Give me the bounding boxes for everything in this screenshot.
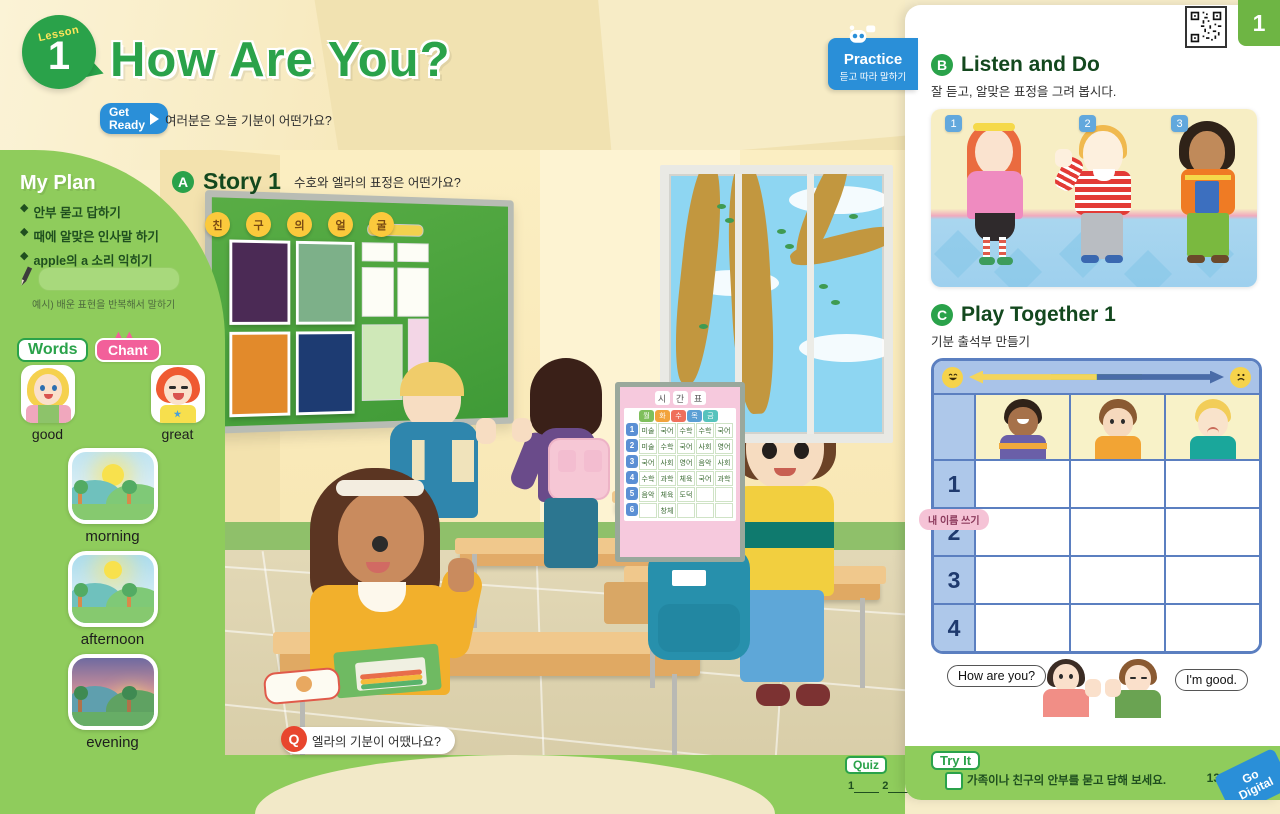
practice-tab[interactable]: Practice 듣고 따라 말하기 xyxy=(828,38,918,90)
timetable-cell: 체육 xyxy=(658,487,676,502)
word-card-evening[interactable]: evening xyxy=(68,654,158,751)
mood-scale-bar xyxy=(934,361,1259,393)
word-card-afternoon[interactable]: afternoon xyxy=(68,551,158,648)
bulletin-letters: 친 구 의 얼 굴 xyxy=(205,212,394,237)
listen-illustration: 1 2 3 xyxy=(931,109,1257,287)
quiz-answer-line[interactable]: 1 2 xyxy=(848,780,913,792)
plan-item-label: 때에 알맞은 인사말 하기 xyxy=(33,226,158,245)
timetable-title: 시 간 표 xyxy=(620,387,740,405)
timetable-cell: 체육 xyxy=(677,471,695,486)
try-it-text: 가족이나 친구의 안부를 묻고 답해 보세요. xyxy=(967,772,1166,788)
word-card-image xyxy=(151,365,205,423)
try-it-badge: Try It xyxy=(931,751,980,770)
table-cell[interactable] xyxy=(974,557,1069,603)
period-number: 4 xyxy=(626,471,638,484)
timetable-cell xyxy=(677,503,695,518)
plan-item-label: 안부 묻고 답하기 xyxy=(33,202,120,221)
page-tab: 1 xyxy=(1238,0,1280,46)
timetable-cell: 사회 xyxy=(696,439,714,454)
table-cell[interactable] xyxy=(1164,605,1259,651)
table-cell[interactable] xyxy=(1069,557,1164,603)
listen-marker: B xyxy=(931,54,953,76)
word-card-good[interactable]: good xyxy=(3,365,93,442)
story-question-text: 엘라의 기분이 어땠나요? xyxy=(312,735,441,749)
day-header: 목 xyxy=(687,410,702,422)
table-cell[interactable] xyxy=(1069,509,1164,555)
word-card-label: great xyxy=(162,426,194,442)
row-number: 4 xyxy=(934,605,974,651)
get-ready-line1: Get xyxy=(109,106,145,119)
timetable-title-char: 표 xyxy=(691,391,706,405)
table-row: 4 xyxy=(934,603,1259,651)
table-cell[interactable] xyxy=(1069,605,1164,651)
mood-column-happy xyxy=(974,395,1069,459)
period-number: 2 xyxy=(626,439,638,452)
word-card-great[interactable]: great xyxy=(133,365,223,442)
plan-item: ◆ 때에 알맞은 인사말 하기 xyxy=(20,226,210,245)
bulletin-letter: 구 xyxy=(246,212,271,237)
timetable-cell: 국어 xyxy=(677,439,695,454)
plan-list: ◆ 안부 묻고 답하기 ◆ 때에 알맞은 인사말 하기 ◆ apple의 a 소… xyxy=(20,202,210,274)
timetable-cell: 음악 xyxy=(696,455,714,470)
table-cell[interactable] xyxy=(974,605,1069,651)
play-title: Play Together 1 xyxy=(961,303,1116,327)
right-page: B Listen and Do 잘 듣고, 알맞은 표정을 그려 봅시다. 1 … xyxy=(905,5,1280,800)
plan-write-input[interactable] xyxy=(38,267,180,291)
listen-item-number: 2 xyxy=(1079,115,1096,132)
period-number: 6 xyxy=(626,503,638,516)
word-card-label: good xyxy=(32,426,63,442)
name-tag-label: 내 이름 쓰기 xyxy=(919,509,989,530)
word-card-image xyxy=(68,448,158,524)
chant-badge[interactable]: Chant xyxy=(95,338,161,362)
word-card-image xyxy=(21,365,75,423)
pencil-case-sticker xyxy=(296,676,312,692)
timetable-cell xyxy=(696,487,714,502)
bulletin-letter: 의 xyxy=(287,212,312,237)
timetable-cell: 도덕 xyxy=(677,487,695,502)
footer-curve xyxy=(255,755,775,814)
story-question-bubble: Q 엘라의 기분이 어땠나요? xyxy=(282,727,455,754)
timetable-cell: 과학 xyxy=(658,471,676,486)
timetable-cell: 국어 xyxy=(696,471,714,486)
word-card-label: afternoon xyxy=(81,631,144,648)
timetable-cell xyxy=(715,503,733,518)
bulletin-letter: 굴 xyxy=(369,212,394,237)
mood-arrows xyxy=(969,371,1224,384)
bullet-icon: ◆ xyxy=(20,202,28,215)
plan-hint: 예시) 배운 표현을 반복해서 말하기 xyxy=(32,296,175,311)
period-number: 5 xyxy=(626,487,638,500)
word-card-label: evening xyxy=(86,734,139,751)
dialogue-row: How are you? I'm good. xyxy=(931,659,1256,705)
get-ready-badge[interactable]: Get Ready xyxy=(100,103,168,134)
mood-attendance-table: 1 2 3 xyxy=(931,358,1262,654)
sad-face-icon xyxy=(1230,367,1251,388)
header-corner-cell xyxy=(934,395,974,459)
try-it-band: Try It 가족이나 친구의 안부를 묻고 답해 보세요. 13 Go Dig… xyxy=(905,746,1280,800)
story-subtitle: 수호와 엘라의 표정은 어떤가요? xyxy=(294,172,461,191)
my-plan-sidebar: My Plan ◆ 안부 묻고 답하기 ◆ 때에 알맞은 인사말 하기 ◆ ap… xyxy=(0,150,225,814)
timetable-cell: 국어 xyxy=(658,423,676,438)
timetable-cell: 수학 xyxy=(696,423,714,438)
timetable-cell: 국어 xyxy=(715,423,733,438)
left-page: 친 구 의 얼 굴 xyxy=(0,0,905,814)
timetable-cell: 과학 xyxy=(715,471,733,486)
my-plan-title: My Plan xyxy=(20,172,96,195)
qr-code[interactable] xyxy=(1185,6,1227,48)
lesson-badge: Lesson 1 xyxy=(22,15,96,89)
play-subtitle: 기분 출석부 만들기 xyxy=(931,331,1256,350)
bullet-icon: ◆ xyxy=(20,226,28,239)
timetable-cell: 창체 xyxy=(658,503,676,518)
mood-column-sad xyxy=(1164,395,1259,459)
play-section-header: C Play Together 1 xyxy=(931,303,1256,327)
play-marker: C xyxy=(931,304,953,326)
timetable-cell xyxy=(715,487,733,502)
timetable-cell: 미술 xyxy=(639,439,657,454)
listen-title: Listen and Do xyxy=(961,53,1100,77)
classroom-illustration: 친 구 의 얼 굴 xyxy=(160,150,905,814)
plan-item: ◆ 안부 묻고 답하기 xyxy=(20,202,210,221)
timetable-cell: 미술 xyxy=(639,423,657,438)
table-header-row xyxy=(934,393,1259,459)
timetable-title-char: 시 xyxy=(655,391,670,405)
table-row: 1 xyxy=(934,459,1259,507)
page-title: How Are You? xyxy=(110,32,451,88)
get-ready-question: 여러분은 오늘 기분이 어떤가요? xyxy=(165,110,332,129)
timetable-grid: 월 화 수 목 금 1 미술 국어 수학 수학 국어 2 미술 수학 xyxy=(624,408,736,521)
table-cell[interactable] xyxy=(974,461,1069,507)
timetable-cell: 사회 xyxy=(715,455,733,470)
table-cell[interactable] xyxy=(1069,461,1164,507)
day-header: 수 xyxy=(671,410,686,422)
play-icon xyxy=(150,113,159,125)
day-header: 월 xyxy=(639,410,654,422)
try-it-checkbox[interactable] xyxy=(945,772,963,790)
table-cell[interactable] xyxy=(1164,509,1259,555)
listen-subtitle: 잘 듣고, 알맞은 표정을 그려 봅시다. xyxy=(931,81,1256,100)
practice-subtitle: 듣고 따라 말하기 xyxy=(828,69,918,83)
story-marker: A xyxy=(172,171,194,193)
timetable-cell: 국어 xyxy=(639,455,657,470)
timetable-cell: 수학 xyxy=(658,439,676,454)
word-card-image xyxy=(68,551,158,627)
timetable-cell xyxy=(696,503,714,518)
timetable-cell: 수학 xyxy=(677,423,695,438)
word-card-morning[interactable]: morning xyxy=(68,448,158,545)
desk-leg xyxy=(860,598,865,688)
speech-bubble-left: How are you? xyxy=(947,665,1046,687)
row-number: 1 xyxy=(934,461,974,507)
row-number: 3 xyxy=(934,557,974,603)
class-timetable: 시 간 표 월 화 수 목 금 1 미술 국어 xyxy=(615,382,745,562)
go-digital-badge[interactable]: Go Digital xyxy=(1214,748,1280,800)
practice-title: Practice xyxy=(828,52,918,67)
word-card-label: morning xyxy=(85,528,139,545)
period-number: 1 xyxy=(626,423,638,436)
table-cell[interactable] xyxy=(1164,557,1259,603)
timetable-title-char: 간 xyxy=(673,391,688,405)
word-cards: good great xyxy=(0,365,225,757)
speech-bubble-right: I'm good. xyxy=(1175,669,1248,691)
word-card-image xyxy=(68,654,158,730)
table-cell[interactable] xyxy=(1164,461,1259,507)
timetable-cell xyxy=(639,503,657,518)
timetable-cell: 사회 xyxy=(658,455,676,470)
happy-face-icon xyxy=(942,367,963,388)
day-header: 화 xyxy=(655,410,670,422)
timetable-cell: 음악 xyxy=(639,487,657,502)
story-title: Story 1 xyxy=(203,168,281,195)
listen-section-header: B Listen and Do xyxy=(931,53,1256,77)
question-marker: Q xyxy=(281,726,307,752)
get-ready-line2: Ready xyxy=(109,119,145,132)
qr-code-icon xyxy=(1189,10,1223,44)
timetable-cell: 영어 xyxy=(677,455,695,470)
timetable-cell: 수학 xyxy=(639,471,657,486)
day-header: 금 xyxy=(703,410,718,422)
lesson-number: 1 xyxy=(48,36,70,76)
listen-item-number: 3 xyxy=(1171,115,1188,132)
table-row: 3 xyxy=(934,555,1259,603)
listen-item-number: 1 xyxy=(945,115,962,132)
period-number: 3 xyxy=(626,455,638,468)
bulletin-letter: 얼 xyxy=(328,212,353,237)
textbook-spread: 친 구 의 얼 굴 xyxy=(0,0,1280,814)
story-header: A Story 1 수호와 엘라의 표정은 어떤가요? xyxy=(172,168,461,195)
mood-column-neutral xyxy=(1069,395,1164,459)
quiz-badge: Quiz xyxy=(845,756,887,774)
bullet-icon: ◆ xyxy=(20,250,28,263)
timetable-cell: 영어 xyxy=(715,439,733,454)
robot-icon xyxy=(846,24,876,48)
words-badge: Words xyxy=(17,338,88,362)
